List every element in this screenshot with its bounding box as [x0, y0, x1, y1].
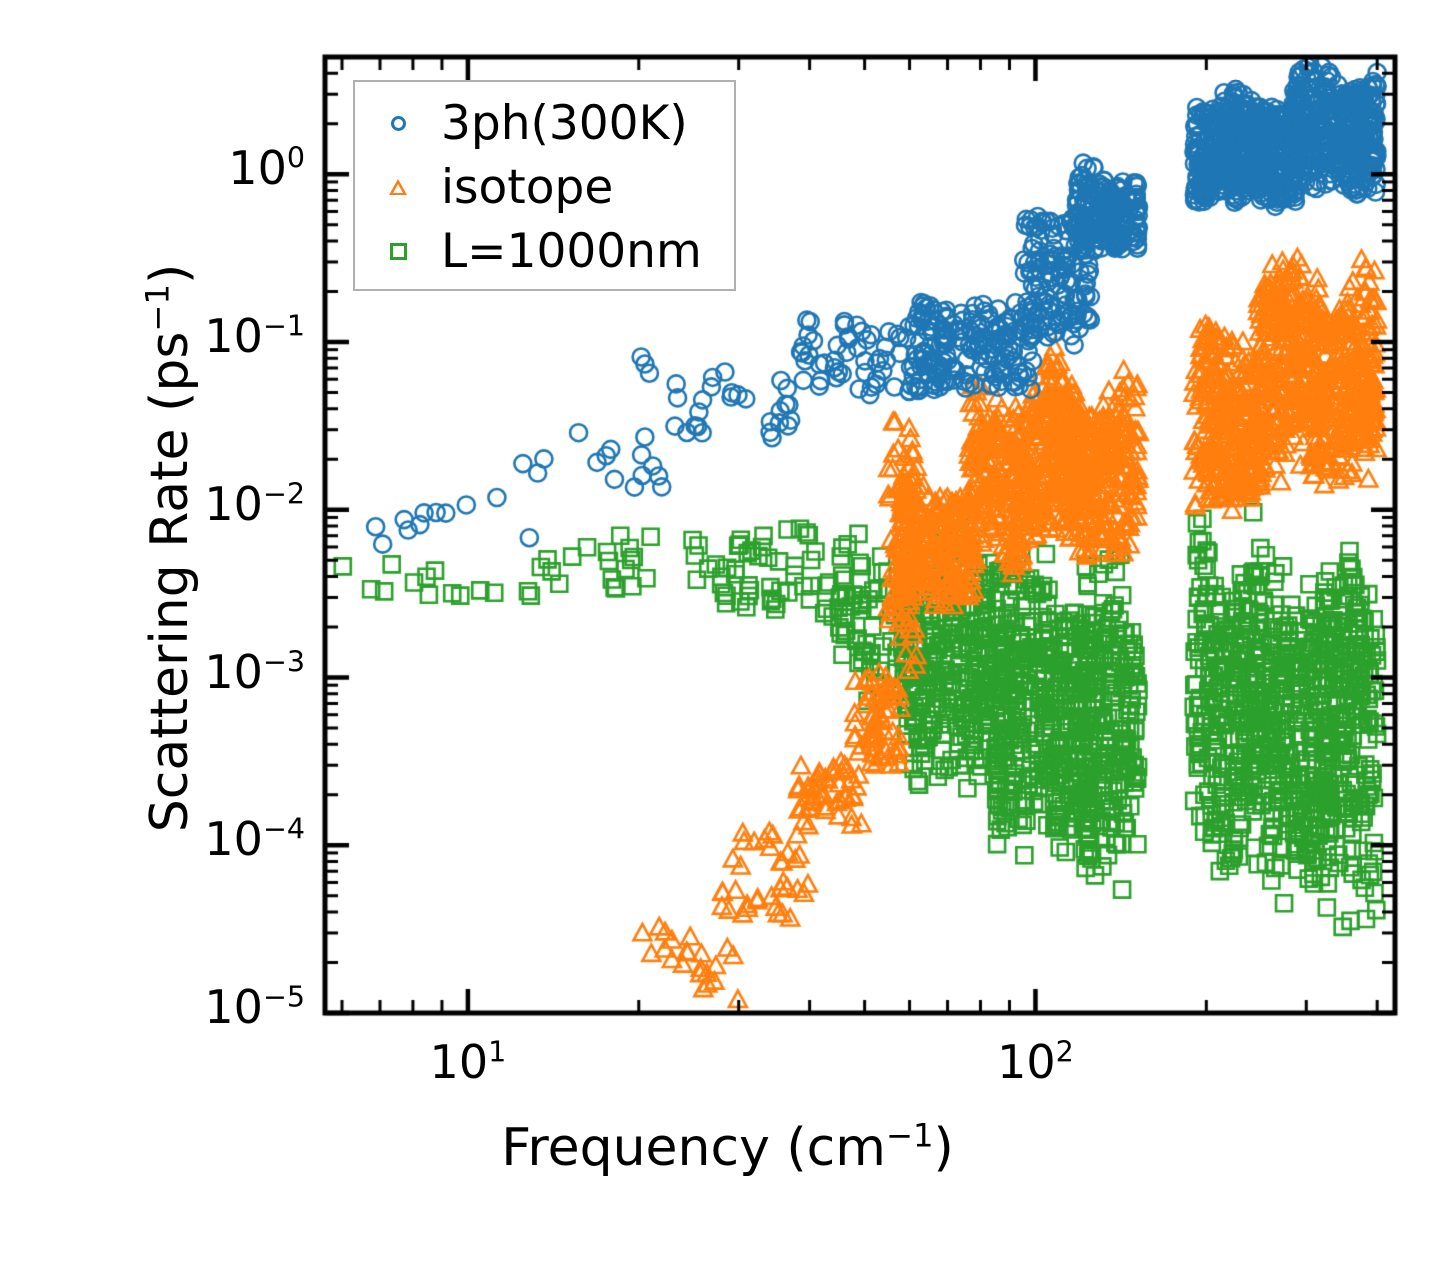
legend-label-l1000nm: L=1000nm	[441, 224, 702, 279]
x-tick-label-1e1: 101	[368, 1035, 568, 1089]
y-axis-label: Scattering Rate (ps−1)	[140, 68, 200, 1028]
circle-open-icon	[355, 116, 441, 131]
x-axis-label: Frequency (cm−1)	[0, 1118, 1455, 1178]
scatter-plot-figure: 100 10−1 10−2 10−3 10−4 10−5 101 102 Fre…	[0, 0, 1455, 1265]
legend-item-isotope[interactable]: isotope	[355, 156, 734, 218]
x-axis-label-exponent: −1	[886, 1117, 934, 1155]
legend-label-3ph300k: 3ph(300K)	[441, 96, 688, 151]
legend-item-3ph300k[interactable]: 3ph(300K)	[355, 92, 734, 154]
legend-item-l1000nm[interactable]: L=1000nm	[355, 220, 734, 282]
y-axis-label-exponent: −1	[139, 284, 177, 332]
square-open-icon	[355, 243, 441, 260]
triangle-open-icon	[355, 179, 441, 195]
x-axis-label-tail: )	[933, 1118, 953, 1178]
y-axis-label-text: Scattering Rate (ps	[140, 332, 200, 833]
x-axis-label-text: Frequency (cm	[501, 1118, 886, 1178]
legend[interactable]: 3ph(300K) isotope L=1000nm	[353, 80, 736, 291]
y-axis-label-tail: )	[140, 264, 200, 284]
x-tick-label-1e2: 102	[935, 1035, 1135, 1089]
legend-label-isotope: isotope	[441, 160, 613, 215]
